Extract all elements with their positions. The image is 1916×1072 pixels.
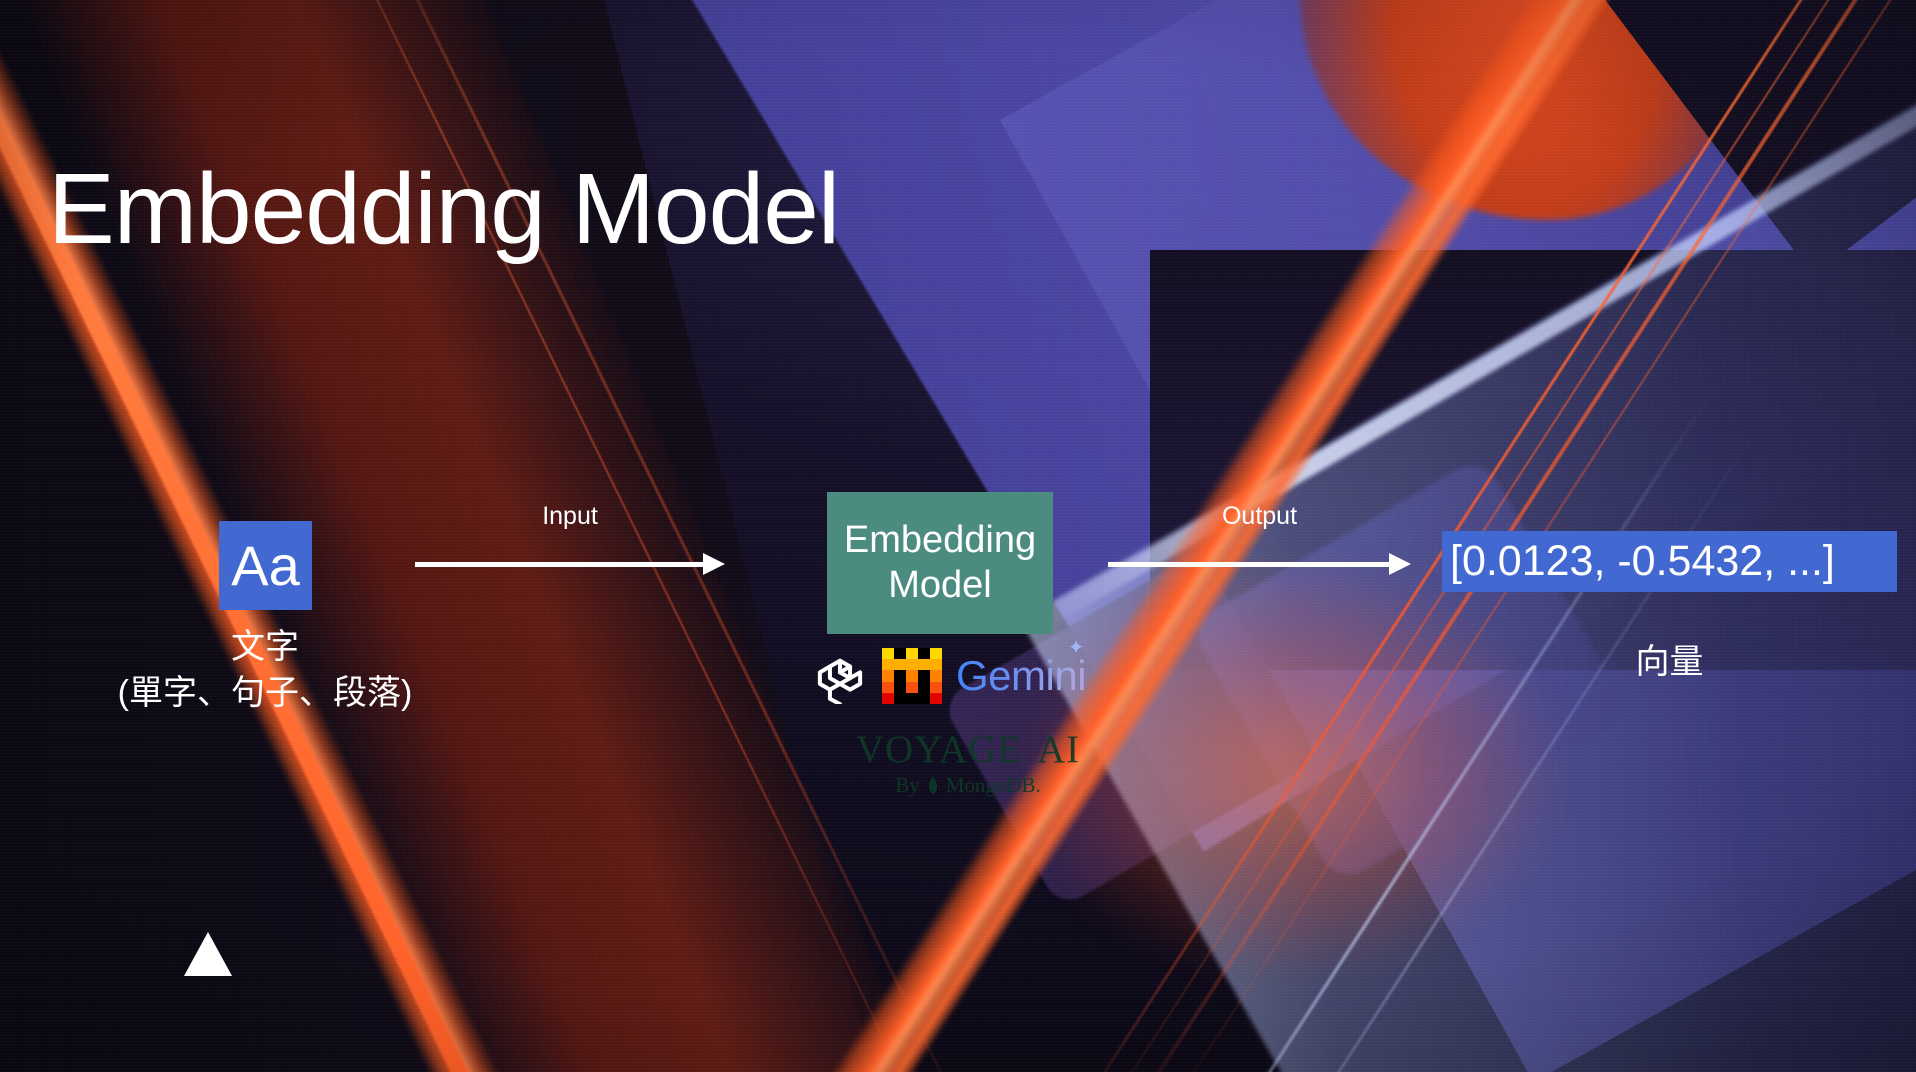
- provider-logo-row: Gemini ✦: [812, 645, 1112, 707]
- voyage-ai-byline: By MongoDB.: [818, 775, 1118, 796]
- triangle-up-icon[interactable]: [184, 932, 232, 976]
- input-arrow-label: Input: [415, 502, 725, 531]
- output-arrow: Output: [1108, 536, 1411, 596]
- aa-badge-label: Aa: [231, 538, 300, 594]
- output-arrow-label: Output: [1108, 502, 1411, 531]
- input-caption: 文字 (單字、句子、段落): [40, 625, 490, 717]
- mongodb-leaf-icon: [927, 776, 939, 796]
- output-caption: 向量: [1442, 640, 1897, 684]
- input-caption-line2: (單字、句子、段落): [40, 671, 490, 717]
- mistral-logo-icon: [882, 648, 942, 704]
- voyage-byline-prefix: By: [895, 775, 920, 796]
- text-format-icon: Aa: [219, 521, 312, 610]
- gemini-wordmark: Gemini: [956, 652, 1086, 699]
- gemini-logo-icon: Gemini ✦: [956, 655, 1090, 697]
- input-caption-line1: 文字: [40, 625, 490, 671]
- vector-output-box: [0.0123, -0.5432, ...]: [1442, 531, 1897, 592]
- page-title: Embedding Model: [48, 159, 839, 259]
- voyage-byline-brand: MongoDB.: [946, 775, 1041, 796]
- input-arrow: Input: [415, 536, 725, 596]
- output-arrow-line: [1108, 562, 1393, 567]
- gemini-sparkle-icon: ✦: [1068, 638, 1084, 658]
- embedding-model-line1: Embedding: [844, 518, 1036, 563]
- embedding-model-line2: Model: [888, 563, 992, 608]
- slide-canvas: Embedding Model Aa 文字 (單字、句子、段落) Input E…: [0, 0, 1916, 1072]
- voyage-ai-wordmark: Voyage AI: [818, 716, 1118, 771]
- input-arrow-line: [415, 562, 707, 567]
- input-arrow-head-icon: [703, 553, 725, 575]
- output-arrow-head-icon: [1389, 553, 1411, 575]
- embedding-model-box: Embedding Model: [827, 492, 1053, 634]
- openai-logo-icon: [812, 648, 868, 704]
- vector-output-value: [0.0123, -0.5432, ...]: [1450, 540, 1835, 583]
- voyage-ai-logo: Voyage AI By MongoDB.: [818, 716, 1118, 796]
